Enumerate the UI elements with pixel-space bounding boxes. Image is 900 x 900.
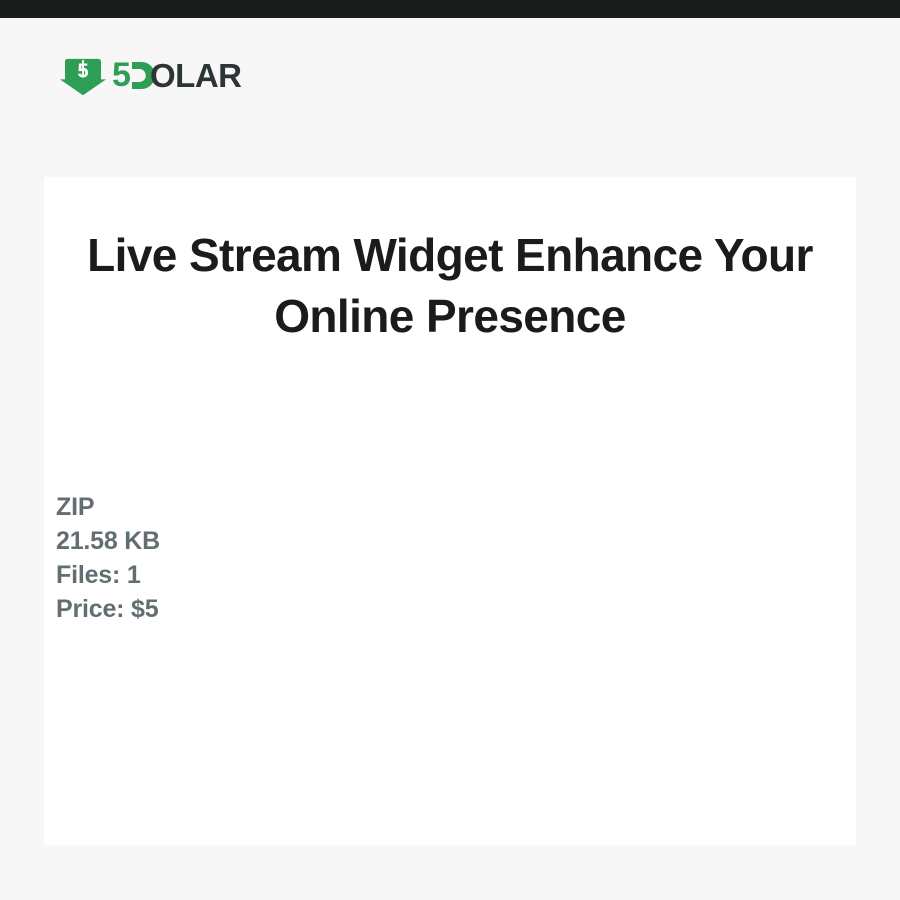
file-count-label: Files: 1 [56, 558, 160, 592]
price-label: Price: $5 [56, 592, 160, 626]
logo-wordmark: 5 OLAR [112, 52, 242, 98]
product-card-body: Live Stream Widget Enhance Your Online P… [44, 177, 856, 845]
product-card: Live Stream Widget Enhance Your Online P… [44, 177, 856, 845]
product-title: Live Stream Widget Enhance Your Online P… [84, 225, 816, 347]
product-preview-image [44, 362, 856, 487]
product-meta: ZIP 21.58 KB Files: 1 Price: $5 [56, 490, 160, 626]
svg-text:OLAR: OLAR [150, 57, 242, 94]
file-size-label: 21.58 KB [56, 524, 160, 558]
card-footer-space [44, 647, 856, 845]
svg-text:5: 5 [112, 56, 130, 94]
site-header: 5 5 OLAR [0, 18, 900, 177]
site-logo[interactable]: 5 5 OLAR [60, 51, 242, 99]
file-type-label: ZIP [56, 490, 160, 524]
top-bar [0, 0, 900, 18]
dollar-arrow-badge-icon: 5 [60, 52, 106, 98]
